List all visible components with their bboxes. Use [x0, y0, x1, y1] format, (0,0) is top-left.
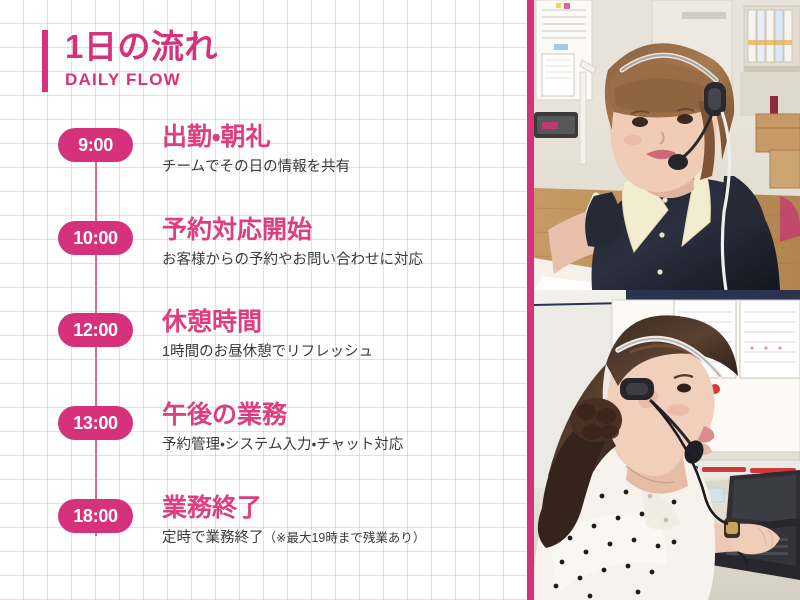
- timeline-item-title: 業務終了: [162, 493, 522, 524]
- timeline-item-description: お客様からの予約やお問い合わせに対応: [162, 251, 522, 271]
- timeline-item-title: 午後の業務: [162, 400, 522, 431]
- timeline-time-badge: 13:00: [58, 406, 133, 440]
- timeline-item-body: 午後の業務 予約管理・システム入力・チャット対応: [162, 400, 522, 455]
- timeline-item-description: 定時で業務終了（※最大19時まで残業あり）: [162, 529, 522, 549]
- grid-background-panel: 1日の流れ DAILY FLOW 9:00 出勤・朝礼 チームでその日の情報を共…: [0, 0, 527, 600]
- header-text-group: 1日の流れ DAILY FLOW: [65, 28, 218, 90]
- timeline-item-description-text: お客様からの予約やお問い合わせに対応: [162, 252, 423, 268]
- timeline-item-description: 1時間のお昼休憩でリフレッシュ: [162, 343, 522, 363]
- timeline-time-badge: 9:00: [58, 128, 133, 162]
- timeline-time-badge: 10:00: [58, 221, 133, 255]
- header-accent-bar: [42, 30, 48, 92]
- timeline-item: 13:00 午後の業務 予約管理・システム入力・チャット対応: [0, 406, 527, 440]
- timeline-item-description-note: （※最大19時まで残業あり）: [264, 531, 426, 545]
- page-header: 1日の流れ DAILY FLOW: [42, 28, 218, 90]
- timeline-time-badge: 18:00: [58, 499, 133, 533]
- timeline-item: 12:00 休憩時間 1時間のお昼休憩でリフレッシュ: [0, 313, 527, 347]
- timeline-item-description-text: 予約管理・システム入力・チャット対応: [162, 437, 403, 453]
- timeline-item-description-text: 1時間のお昼休憩でリフレッシュ: [162, 344, 373, 360]
- timeline-item: 18:00 業務終了 定時で業務終了（※最大19時まで残業あり）: [0, 499, 527, 533]
- daily-flow-infographic: 1日の流れ DAILY FLOW 9:00 出勤・朝礼 チームでその日の情報を共…: [0, 0, 800, 600]
- timeline-time-badge: 12:00: [58, 313, 133, 347]
- timeline-item-title: 休憩時間: [162, 307, 522, 338]
- call-center-operator-laptop-photo: [534, 290, 800, 600]
- timeline-item: 10:00 予約対応開始 お客様からの予約やお問い合わせに対応: [0, 221, 527, 255]
- timeline-item-title: 予約対応開始: [162, 215, 522, 246]
- timeline-item-description-text: チームでその日の情報を共有: [162, 159, 350, 175]
- timeline-item-body: 出勤・朝礼 チームでその日の情報を共有: [162, 122, 522, 177]
- timeline-item: 9:00 出勤・朝礼 チームでその日の情報を共有: [0, 128, 527, 162]
- timeline-item-body: 予約対応開始 お客様からの予約やお問い合わせに対応: [162, 215, 522, 270]
- timeline-item-description: 予約管理・システム入力・チャット対応: [162, 436, 522, 456]
- timeline-item-description: チームでその日の情報を共有: [162, 158, 522, 178]
- vertical-divider-bar: [527, 0, 534, 600]
- timeline-connector-line: [95, 162, 97, 536]
- timeline-item-body: 業務終了 定時で業務終了（※最大19時まで残業あり）: [162, 493, 522, 548]
- page-subtitle: DAILY FLOW: [65, 70, 218, 90]
- timeline-item-description-text: 定時で業務終了: [162, 530, 264, 546]
- page-title: 1日の流れ: [65, 28, 218, 67]
- photo-bottom-illustration: [534, 290, 800, 600]
- call-center-operator-headset-photo: [534, 0, 800, 290]
- timeline-item-body: 休憩時間 1時間のお昼休憩でリフレッシュ: [162, 307, 522, 362]
- photo-column: [534, 0, 800, 600]
- photo-top-illustration: [534, 0, 800, 290]
- timeline-item-title: 出勤・朝礼: [162, 122, 522, 153]
